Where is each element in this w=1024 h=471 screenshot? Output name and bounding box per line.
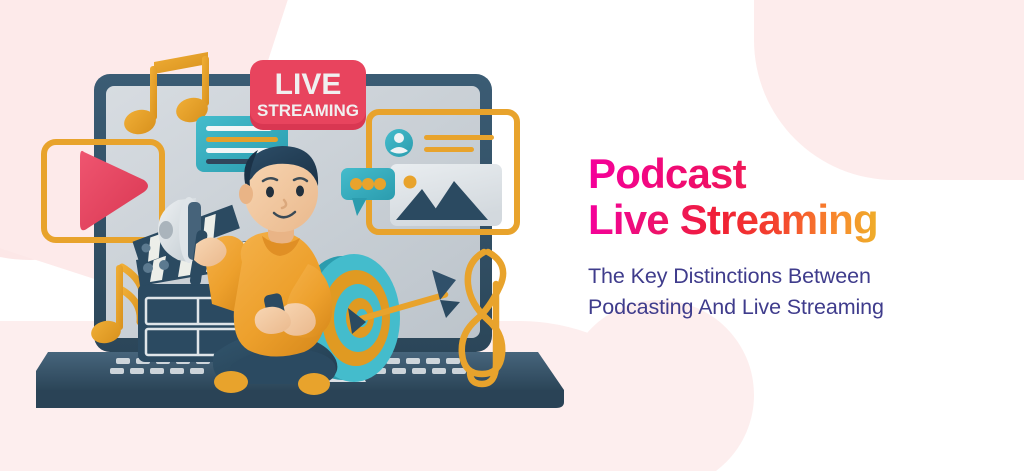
live-badge-line1: LIVE (275, 68, 342, 101)
headline-line-1: Podcast (588, 152, 988, 197)
headline-line-2: Live Streaming (588, 198, 988, 243)
subheadline-line-2: Podcasting And Live Streaming (588, 292, 988, 323)
text-column: Podcast Live Streaming The Key Distincti… (588, 152, 988, 323)
image-placeholder-icon (390, 164, 502, 226)
live-badge-line2: STREAMING (257, 101, 359, 120)
live-streaming-badge: LIVE STREAMING (250, 60, 366, 130)
subheadline-line-1: The Key Distinctions Between (588, 261, 988, 292)
banner-root: LIVE STREAMING (0, 0, 1024, 471)
blob-mid-right (564, 300, 754, 471)
hero-illustration: LIVE STREAMING (36, 52, 576, 432)
